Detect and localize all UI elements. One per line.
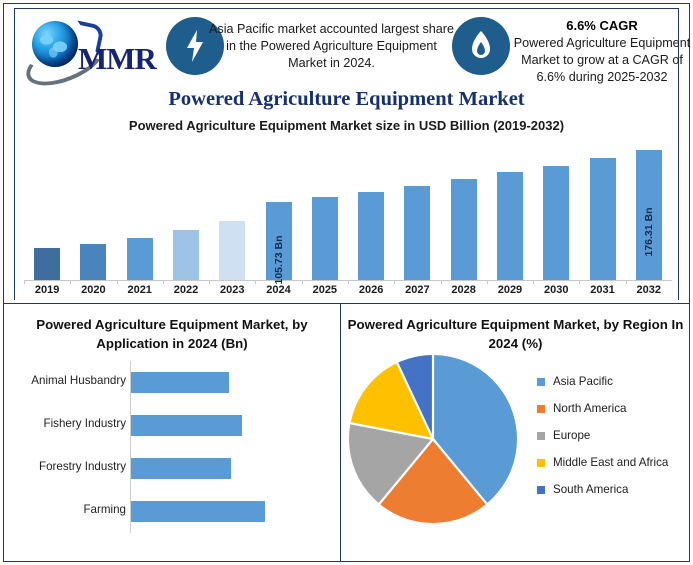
brand-logo: MMR <box>24 17 164 79</box>
bar-2026 <box>358 192 384 280</box>
legend-item[interactable]: Europe <box>537 429 687 442</box>
application-bar-animal-husbandry <box>131 372 229 393</box>
bar-2021 <box>127 238 153 280</box>
bar-2032: 176.31 Bn <box>636 150 662 280</box>
bar-column <box>441 140 487 280</box>
bar-2028 <box>451 179 477 280</box>
bar-2023 <box>219 221 245 280</box>
x-tick-label: 2019 <box>24 284 70 296</box>
bar-2020 <box>80 244 106 280</box>
market-size-bar-chart: Powered Agriculture Equipment Market siz… <box>14 118 679 300</box>
bar-column <box>209 140 255 280</box>
application-bar-chart: Animal HusbandryFishery IndustryForestry… <box>4 361 340 551</box>
application-row: Fishery Industry <box>4 408 340 450</box>
bar-2030 <box>543 166 569 280</box>
bar-2031 <box>590 158 616 280</box>
bar-column <box>302 140 348 280</box>
application-label: Forestry Industry <box>0 460 126 473</box>
legend-label: South America <box>553 483 628 496</box>
legend-swatch-icon <box>537 432 545 440</box>
brand-name: MMR <box>78 41 156 77</box>
legend-swatch-icon <box>537 405 545 413</box>
bar-column <box>579 140 625 280</box>
bar-column <box>487 140 533 280</box>
bar-column: 176.31 Bn <box>626 140 672 280</box>
region-chart-title: Powered Agriculture Equipment Market, by… <box>341 315 690 353</box>
bar-chart-title: Powered Agriculture Equipment Market siz… <box>14 118 679 133</box>
bar-2025 <box>312 197 338 280</box>
infographic-page: MMR Asia Pacific market accounted larges… <box>0 0 693 565</box>
application-bar-farming <box>131 501 265 522</box>
x-tick-label: 2020 <box>70 284 116 296</box>
region-panel: Powered Agriculture Equipment Market, by… <box>341 303 690 562</box>
application-label: Animal Husbandry <box>0 374 126 387</box>
x-tick-label: 2029 <box>487 284 533 296</box>
legend-item[interactable]: South America <box>537 483 687 496</box>
flame-glyph <box>470 31 492 61</box>
legend-label: Middle East and Africa <box>553 456 668 469</box>
region-legend: Asia PacificNorth AmericaEuropeMiddle Ea… <box>537 375 687 510</box>
legend-item[interactable]: Asia Pacific <box>537 375 687 388</box>
x-tick-label: 2032 <box>626 284 672 296</box>
bar-chart-plot: 105.73 Bn176.31 Bn <box>24 140 672 280</box>
application-row: Animal Husbandry <box>4 365 340 407</box>
region-pie-chart <box>349 355 517 523</box>
bar-column <box>24 140 70 280</box>
x-tick-label: 2023 <box>209 284 255 296</box>
bar-value-label: 105.73 Bn <box>273 235 285 284</box>
bar-2029 <box>497 172 523 280</box>
application-panel: Powered Agriculture Equipment Market, by… <box>4 303 340 562</box>
bar-column <box>117 140 163 280</box>
bar-column <box>348 140 394 280</box>
x-tick-label: 2024 <box>255 284 301 296</box>
bar-column: 105.73 Bn <box>255 140 301 280</box>
legend-swatch-icon <box>537 378 545 386</box>
bar-column <box>394 140 440 280</box>
legend-swatch-icon <box>537 459 545 467</box>
x-tick-label: 2025 <box>302 284 348 296</box>
application-row: Forestry Industry <box>4 451 340 493</box>
header-left-note: Asia Pacific market accounted largest sh… <box>209 21 454 72</box>
x-tick-label: 2027 <box>394 284 440 296</box>
bar-column <box>70 140 116 280</box>
application-row: Farming <box>4 494 340 536</box>
application-bar-fishery-industry <box>131 415 242 436</box>
bar-2024: 105.73 Bn <box>266 202 292 280</box>
bar-2022 <box>173 230 199 280</box>
legend-item[interactable]: Middle East and Africa <box>537 456 687 469</box>
cagr-badge: 6.6% CAGR <box>511 17 693 34</box>
x-tick-label: 2026 <box>348 284 394 296</box>
bar-value-label: 176.31 Bn <box>643 207 655 256</box>
x-tick-label: 2028 <box>441 284 487 296</box>
application-label: Farming <box>0 503 126 516</box>
bar-2027 <box>404 186 430 280</box>
bar-2019 <box>34 248 60 280</box>
x-tick-label: 2030 <box>533 284 579 296</box>
x-tick-label: 2022 <box>163 284 209 296</box>
legend-label: Asia Pacific <box>553 375 613 388</box>
legend-swatch-icon <box>537 486 545 494</box>
bar-column <box>163 140 209 280</box>
application-bar-forestry-industry <box>131 458 231 479</box>
bar-column <box>533 140 579 280</box>
flame-icon <box>452 17 510 75</box>
legend-label: Europe <box>553 429 590 442</box>
header: MMR Asia Pacific market accounted larges… <box>14 9 679 89</box>
application-chart-title: Powered Agriculture Equipment Market, by… <box>4 315 340 353</box>
legend-item[interactable]: North America <box>537 402 687 415</box>
legend-label: North America <box>553 402 626 415</box>
cagr-description: Powered Agriculture Equipment Market to … <box>514 36 690 84</box>
lightning-bolt-glyph <box>185 30 205 62</box>
page-title: Powered Agriculture Equipment Market <box>0 88 693 111</box>
bar-chart-x-labels: 2019202020212022202320242025202620272028… <box>24 284 672 296</box>
x-tick-label: 2021 <box>117 284 163 296</box>
header-right-note: 6.6% CAGR Powered Agriculture Equipment … <box>511 17 693 86</box>
application-label: Fishery Industry <box>0 417 126 430</box>
x-tick-label: 2031 <box>579 284 625 296</box>
